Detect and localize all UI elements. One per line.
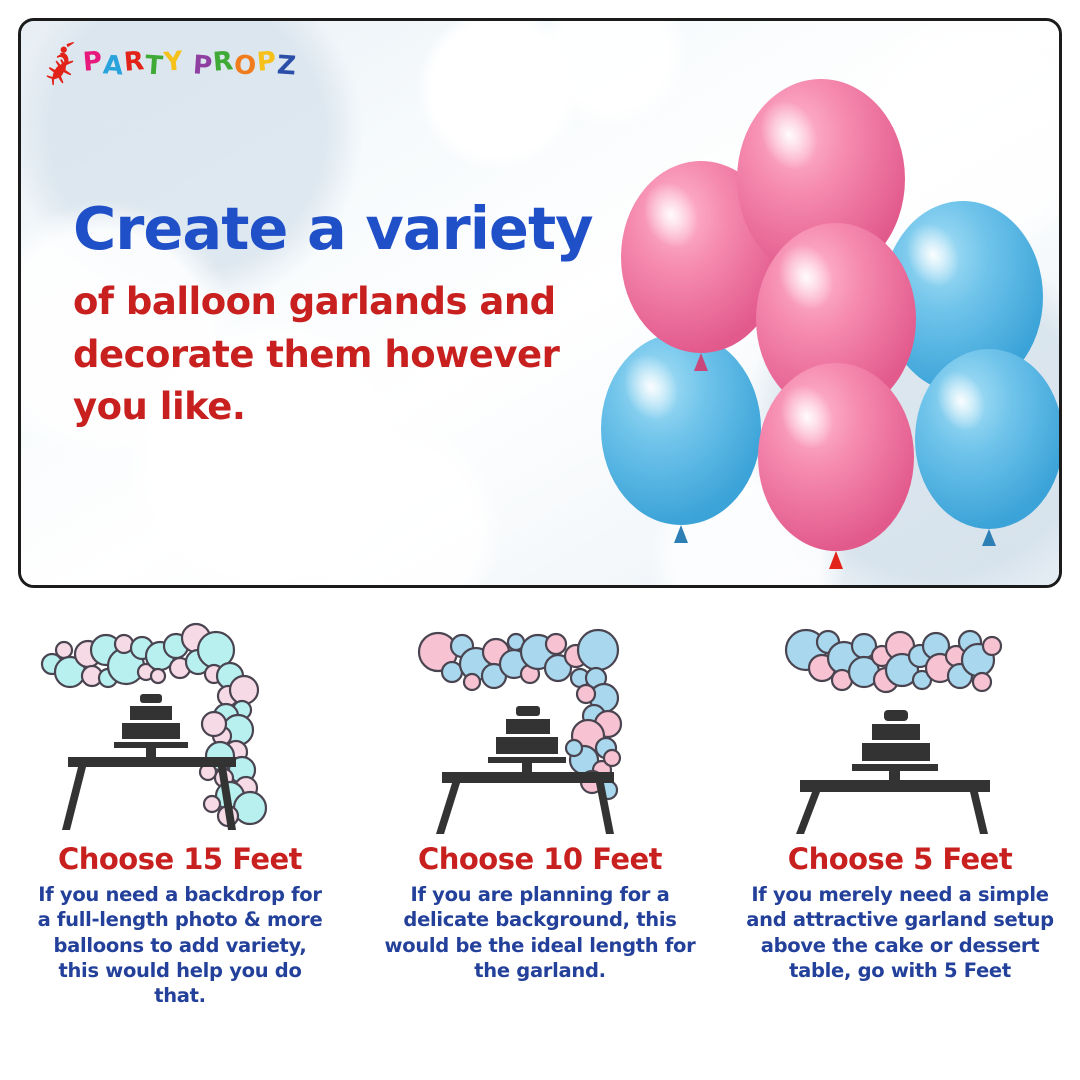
option-title: Choose 5 Feet	[788, 842, 1012, 876]
logo-letter: R	[212, 48, 235, 76]
hero-card: PARTYPROPZ Create a variety of balloon g…	[18, 18, 1062, 588]
option-15-feet[interactable]: Choose 15 Feet If you need a backdrop fo…	[0, 612, 360, 1072]
brand-wordmark: PARTYPROPZ	[83, 51, 297, 77]
logo-letter: R	[123, 48, 146, 76]
table-and-cake-icon	[796, 710, 990, 834]
garland-15ft-illustration	[30, 612, 330, 834]
hero-subhead-line-1: of balloon garlands and	[73, 276, 653, 329]
logo-letter: P	[82, 48, 104, 76]
option-description: If you need a backdrop for a full-length…	[35, 882, 325, 1009]
balloon-pink-front	[758, 363, 914, 569]
logo-letter: Y	[163, 48, 185, 76]
hero-subhead-line-3: you like.	[73, 381, 653, 434]
hero-headline: Create a variety	[73, 199, 653, 258]
garland-10ft-illustration	[390, 612, 690, 834]
option-description: If you merely need a simple and attracti…	[735, 882, 1065, 983]
options-row: Choose 15 Feet If you need a backdrop fo…	[0, 612, 1080, 1072]
garland-5ft-illustration	[750, 612, 1050, 834]
option-description: If you are planning for a delicate backg…	[380, 882, 700, 983]
balloon-bunch-photo	[593, 29, 1062, 588]
balloon-blue-bottom-right	[915, 349, 1062, 546]
logo-letter: P	[256, 48, 278, 76]
cupid-icon	[43, 41, 77, 87]
hero-subhead-line-2: decorate them however	[73, 329, 653, 382]
logo-letter: P	[192, 52, 214, 79]
brand-logo[interactable]: PARTYPROPZ	[43, 41, 297, 87]
option-10-feet[interactable]: Choose 10 Feet If you are planning for a…	[360, 612, 720, 1072]
logo-letter: A	[102, 52, 125, 79]
option-5-feet[interactable]: Choose 5 Feet If you merely need a simpl…	[720, 612, 1080, 1072]
logo-letter: T	[144, 52, 165, 79]
option-title: Choose 15 Feet	[58, 842, 302, 876]
hero-text-block: Create a variety of balloon garlands and…	[73, 199, 653, 434]
option-title: Choose 10 Feet	[418, 842, 662, 876]
logo-letter: O	[233, 52, 258, 80]
logo-letter: Z	[276, 52, 298, 79]
